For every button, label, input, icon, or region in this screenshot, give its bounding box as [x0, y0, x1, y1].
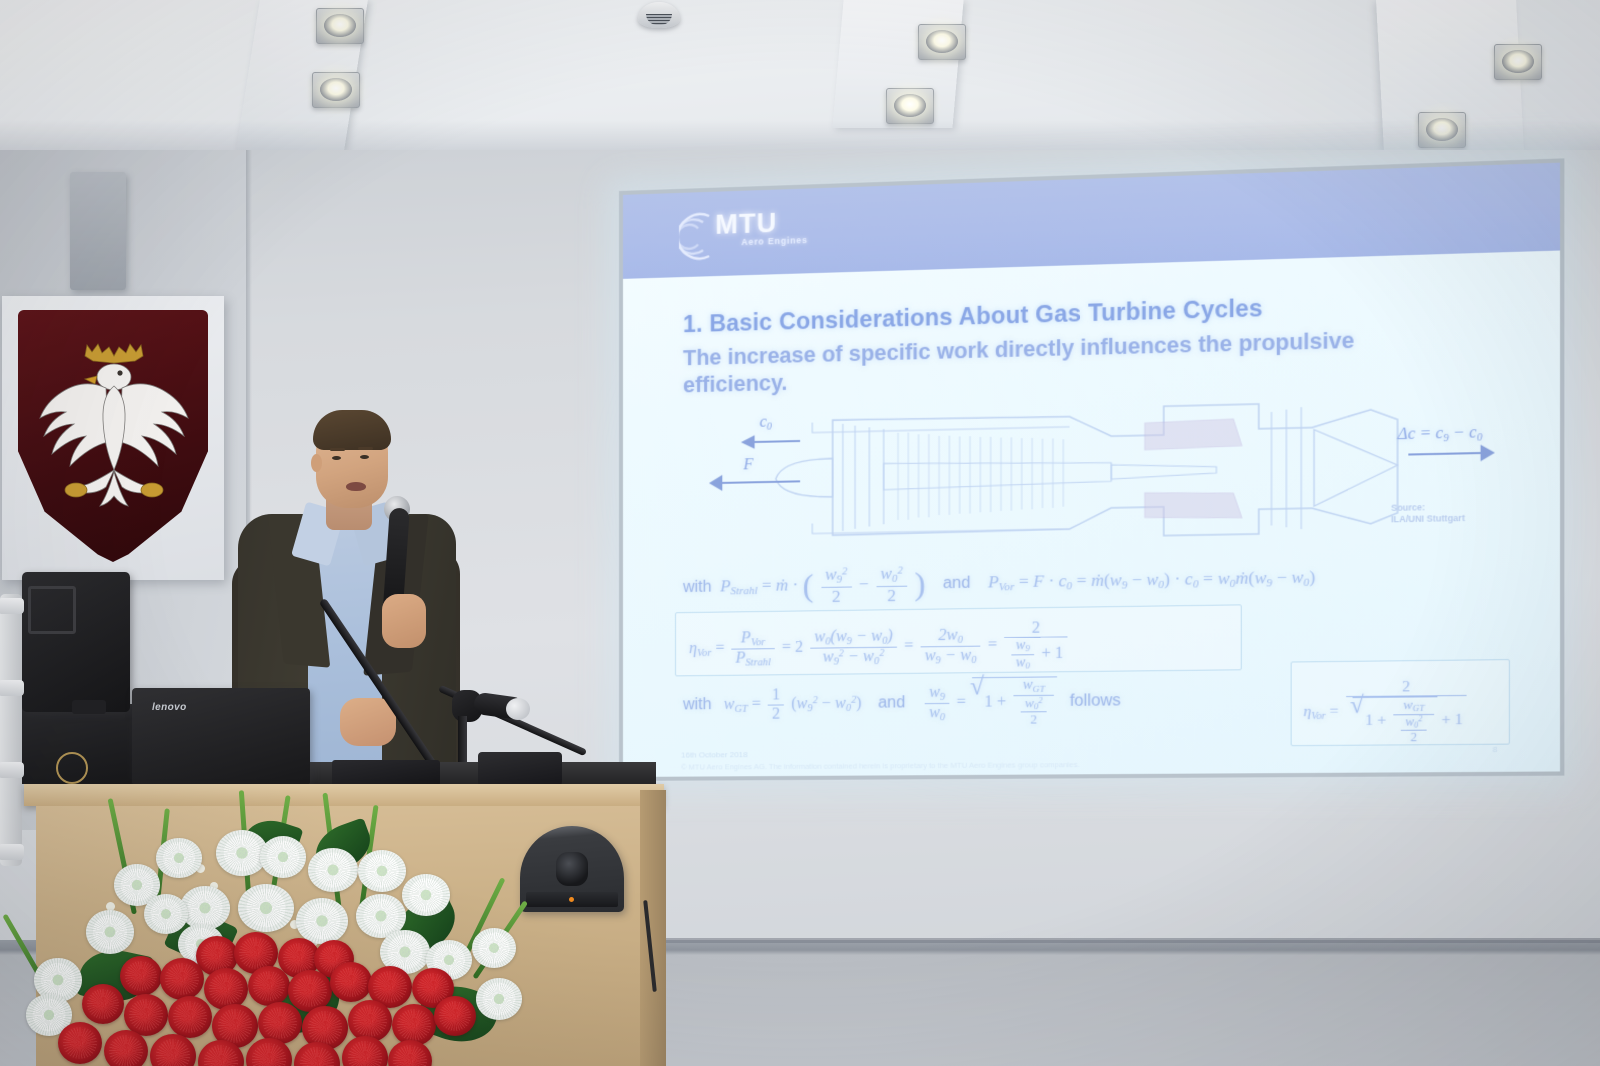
- red-carnation: [160, 958, 204, 1000]
- smoke-detector-icon: [638, 2, 680, 28]
- lectern-side-panel: [640, 790, 666, 1066]
- presenter-eye-right: [360, 455, 369, 459]
- label-thrust-F: F: [743, 456, 753, 474]
- white-daisy: [308, 848, 358, 892]
- presenter-ear: [311, 454, 322, 472]
- label-c0: c0: [760, 413, 772, 432]
- lenovo-logo: lenovo: [152, 702, 187, 713]
- red-carnation: [248, 966, 290, 1006]
- vesa-mount-icon: [28, 586, 76, 634]
- equation-row-1: with PStrahl = ṁ · ( w922 − w022 ) and P…: [683, 558, 1315, 608]
- wall-speaker-panel: [70, 172, 126, 290]
- presenter-brow-left: [330, 448, 345, 451]
- slide-footer-date: 16th October 2018: [681, 750, 748, 760]
- flower-arrangement: [20, 790, 580, 1066]
- red-carnation: [150, 1034, 196, 1066]
- engine-cross-section-icon: [681, 381, 1516, 560]
- ceiling-spotlight-icon: [886, 88, 934, 124]
- presenter-eye-left: [332, 456, 341, 460]
- ceiling-spotlight-icon: [918, 24, 966, 60]
- white-daisy: [402, 874, 450, 916]
- polish-eagle-icon: [36, 330, 192, 530]
- turbofan-engine-diagram: c0 F Δc = c9 − c0: [681, 381, 1516, 560]
- red-carnation: [330, 962, 372, 1002]
- support-pole: [0, 594, 22, 866]
- slide-footer-copyright: © MTU Aero Engines AG. The information c…: [681, 760, 1080, 772]
- dell-logo-icon: [56, 752, 88, 784]
- ceiling-spotlight-icon: [1494, 44, 1542, 80]
- equation-row-3: with wGT = 12 (w92 − w02) and w9w0 = 1 +…: [683, 676, 1121, 730]
- white-daisy: [86, 910, 134, 954]
- mtu-tagline: Aero Engines: [741, 235, 807, 247]
- microphone-windscreen-icon: [506, 698, 530, 720]
- monitor-stand: [72, 700, 106, 714]
- red-carnation: [104, 1030, 148, 1066]
- ceiling-spotlight-icon: [316, 8, 364, 44]
- presenter-hair: [313, 410, 391, 450]
- white-daisy: [476, 978, 522, 1020]
- white-daisy: [296, 898, 348, 944]
- red-carnation: [342, 1036, 388, 1066]
- equation-row-4: ηVor = 2 1 + wGTw022 + 1: [1303, 678, 1470, 745]
- red-carnation: [58, 1022, 102, 1064]
- floor-wall-line: [620, 938, 1600, 943]
- red-carnation: [434, 996, 476, 1036]
- projection-screen: MTU Aero Engines 1. Basic Considerations…: [619, 158, 1564, 781]
- white-daisy: [260, 836, 306, 878]
- white-daisy: [156, 838, 202, 878]
- pole-joint: [0, 680, 24, 696]
- red-carnation: [120, 956, 162, 996]
- desktop-monitor: [22, 572, 130, 712]
- presentation-slide: MTU Aero Engines 1. Basic Considerations…: [623, 163, 1560, 777]
- white-daisy: [472, 928, 516, 968]
- red-carnation: [82, 984, 124, 1024]
- white-daisy: [358, 850, 406, 892]
- presenter-brow-right: [358, 447, 373, 450]
- red-carnation: [168, 996, 212, 1038]
- projector-control-unit: [478, 752, 562, 786]
- equation-row-2: ηVor = PVorPStrahl = 2 w0(w9 − w0)w92 − …: [689, 619, 1070, 675]
- label-delta-c: Δc = c9 − c0: [1398, 424, 1483, 445]
- red-carnation: [388, 1040, 432, 1066]
- conference-room-photo: MTU Aero Engines 1. Basic Considerations…: [0, 0, 1600, 1066]
- white-daisy: [144, 894, 188, 934]
- ceiling-spotlight-icon: [312, 72, 360, 108]
- presenter-hand-holding-mic: [382, 594, 426, 648]
- coat-of-arms-frame: [2, 296, 224, 580]
- pole-joint: [0, 598, 24, 614]
- red-carnation: [204, 968, 248, 1010]
- diagram-source: Source: ILA/UNI Stuttgart: [1391, 501, 1465, 525]
- slide-page-number: 8: [1493, 745, 1498, 754]
- pole-joint: [0, 762, 24, 778]
- white-daisy: [238, 884, 294, 932]
- av-equipment-box: [332, 760, 440, 786]
- presenter-mouth: [346, 482, 366, 491]
